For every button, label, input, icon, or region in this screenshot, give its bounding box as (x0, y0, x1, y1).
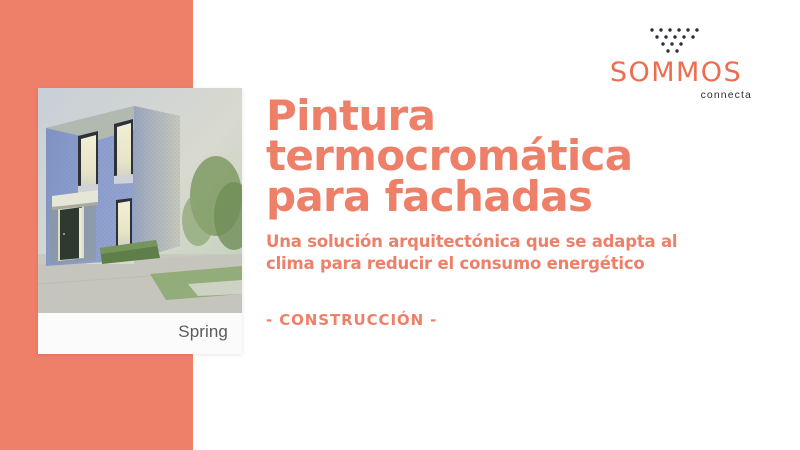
subtitle-line-1: Una solución arquitectónica que se adapt… (266, 232, 677, 251)
category-label: - CONSTRUCCIÓN - (266, 311, 437, 329)
sommos-logo[interactable]: SOMMOS connecta (596, 26, 756, 101)
image-caption-text: Spring (178, 322, 228, 342)
subtitle-line-2: clima para reducir el consumo energético (266, 254, 645, 273)
image-caption: Spring (38, 313, 242, 354)
title-line-3: para fachadas (266, 172, 592, 221)
sommos-logo-wordmark: SOMMOS (596, 59, 756, 86)
subtitle: Una solución arquitectónica que se adapt… (266, 231, 686, 275)
presentation-slide: Spring SOMMOS connecta Pintura termocrom… (0, 0, 800, 450)
image-card: Spring (38, 88, 242, 354)
triangle-dot-grid-icon (646, 26, 706, 56)
thermochromic-facade-house-photo (38, 88, 242, 313)
footer-credits: FINANCIA: GENERALITAT (0, 370, 800, 450)
page-title: Pintura termocromática para fachadas (266, 96, 686, 217)
headline-block: Pintura termocromática para fachadas (266, 96, 686, 217)
